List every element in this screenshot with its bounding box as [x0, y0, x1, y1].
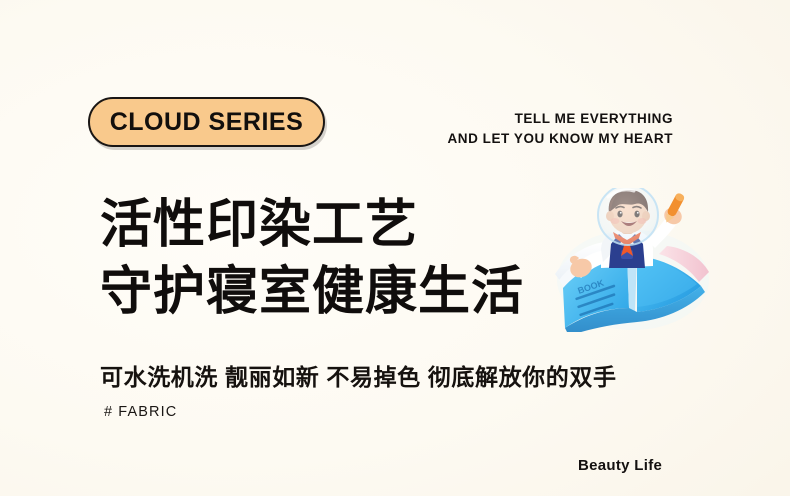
tagline-line-1: TELL ME EVERYTHING	[447, 109, 673, 129]
brand-signature: Beauty Life	[578, 457, 662, 474]
main-heading-line-1: 活性印染工艺	[100, 192, 524, 259]
promo-banner: CLOUD SERIES TELL ME EVERYTHING AND LET …	[0, 0, 790, 496]
cloud-series-badge: CLOUD SERIES	[88, 97, 325, 147]
fabric-hashtag: # FABRIC	[104, 404, 177, 420]
main-heading-line-2: 守护寝室健康生活	[100, 259, 524, 326]
cloud-series-badge-label: CLOUD SERIES	[110, 110, 304, 135]
child-reading-book-icon: BOOK	[549, 188, 713, 332]
main-heading: 活性印染工艺 守护寝室健康生活	[100, 192, 524, 325]
sub-heading: 可水洗机洗 靓丽如新 不易掉色 彻底解放你的双手	[100, 358, 617, 392]
tagline-line-2: AND LET YOU KNOW MY HEART	[447, 129, 673, 149]
tagline-block: TELL ME EVERYTHING AND LET YOU KNOW MY H…	[447, 109, 673, 148]
